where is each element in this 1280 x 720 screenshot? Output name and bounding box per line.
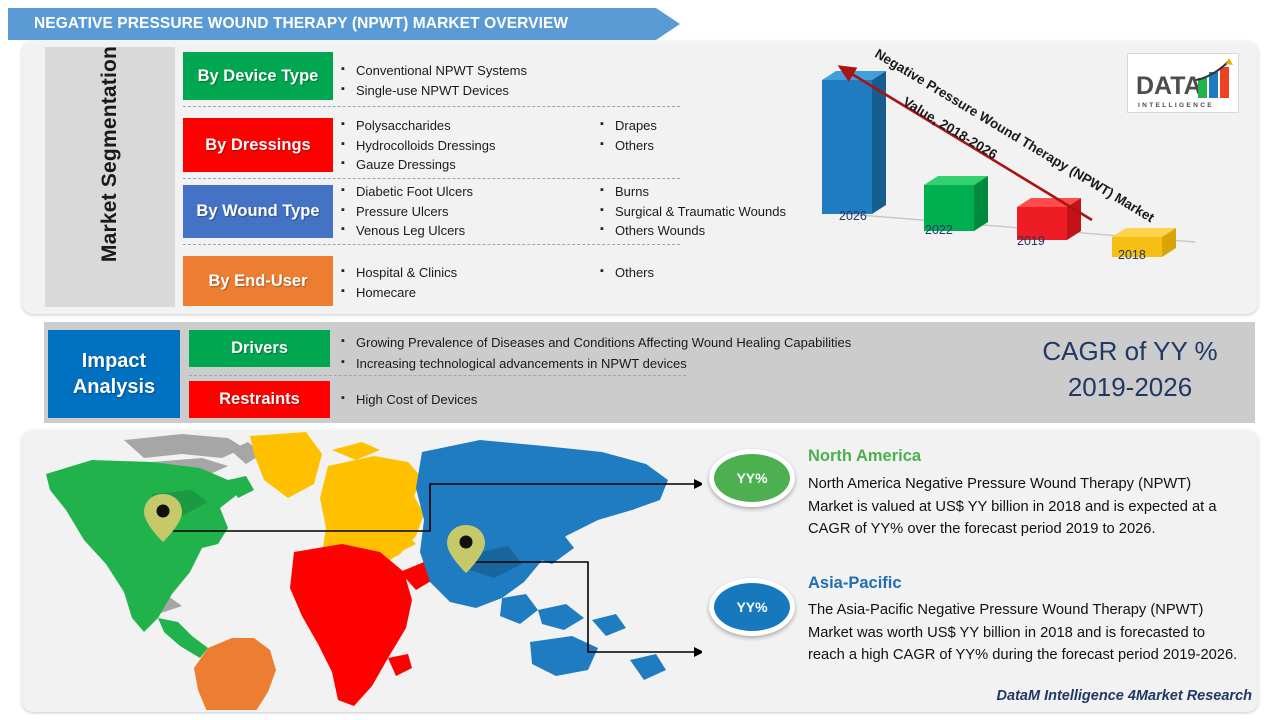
list-item: Polysaccharides bbox=[341, 116, 495, 136]
market-segmentation-label: Market Segmentation bbox=[98, 24, 122, 284]
map-region-north-america bbox=[46, 460, 254, 658]
list-item: Surgical & Traumatic Wounds bbox=[600, 202, 786, 222]
north-america-badge[interactable]: YY% bbox=[709, 449, 795, 507]
impact-title-line2: Analysis bbox=[73, 376, 155, 398]
list-item: Conventional NPWT Systems bbox=[341, 61, 527, 81]
segment-box-end-user[interactable]: By End-User bbox=[183, 256, 333, 306]
logo-wordmark: DATA bbox=[1136, 72, 1202, 100]
list-item: Homecare bbox=[341, 283, 457, 303]
impact-box-drivers[interactable]: Drivers bbox=[189, 330, 330, 367]
list-item: Venous Leg Ulcers bbox=[341, 221, 473, 241]
segment-items-dressings-col2: Drapes Others bbox=[600, 116, 657, 155]
impact-items-drivers: Growing Prevalence of Diseases and Condi… bbox=[341, 332, 851, 374]
segment-items-device-type-col1: Conventional NPWT Systems Single-use NPW… bbox=[341, 61, 527, 100]
map-region-africa bbox=[290, 544, 436, 706]
list-item: Burns bbox=[600, 182, 786, 202]
impact-label-drivers: Drivers bbox=[231, 339, 288, 358]
list-item: Growing Prevalence of Diseases and Condi… bbox=[341, 332, 851, 353]
cagr-line2: 2019-2026 bbox=[990, 369, 1270, 405]
segment-label-dressings: By Dressings bbox=[205, 136, 310, 155]
segment-label-wound-type: By Wound Type bbox=[196, 202, 319, 221]
list-item: Gauze Dressings bbox=[341, 155, 495, 175]
segment-divider-2 bbox=[183, 178, 680, 179]
impact-divider bbox=[189, 375, 686, 376]
north-america-body: North America Negative Pressure Wound Th… bbox=[808, 473, 1238, 541]
asia-pacific-body: The Asia-Pacific Negative Pressure Wound… bbox=[808, 599, 1238, 667]
world-map bbox=[32, 432, 702, 710]
list-item: Others Wounds bbox=[600, 221, 786, 241]
impact-label-restraints: Restraints bbox=[219, 390, 300, 409]
cagr-line1: CAGR of YY % bbox=[990, 333, 1270, 369]
segment-box-wound-type[interactable]: By Wound Type bbox=[183, 185, 333, 238]
segment-items-dressings-col1: Polysaccharides Hydrocolloids Dressings … bbox=[341, 116, 495, 175]
list-item: High Cost of Devices bbox=[341, 390, 477, 410]
segment-items-wound-type-col2: Burns Surgical & Traumatic Wounds Others… bbox=[600, 182, 786, 241]
segment-items-end-user-col2: Others bbox=[600, 263, 654, 283]
logo-star-icon bbox=[1226, 58, 1233, 65]
map-region-greenland bbox=[250, 432, 322, 498]
chart-xtick-2022: 2022 bbox=[925, 223, 953, 237]
cagr-callout: CAGR of YY % 2019-2026 bbox=[990, 333, 1270, 405]
list-item: Drapes bbox=[600, 116, 657, 136]
list-item: Others bbox=[600, 136, 657, 156]
north-america-title: North America bbox=[808, 447, 921, 466]
connector-arrow-na-icon bbox=[694, 479, 702, 489]
asia-pacific-badge[interactable]: YY% bbox=[709, 578, 795, 636]
segment-box-dressings[interactable]: By Dressings bbox=[183, 118, 333, 172]
impact-box-restraints[interactable]: Restraints bbox=[189, 381, 330, 418]
list-item: Single-use NPWT Devices bbox=[341, 81, 527, 101]
list-item: Hospital & Clinics bbox=[341, 263, 457, 283]
segment-divider-3 bbox=[183, 244, 680, 245]
segment-items-end-user-col1: Hospital & Clinics Homecare bbox=[341, 263, 457, 302]
chart-xtick-2018: 2018 bbox=[1118, 248, 1146, 262]
list-item: Others bbox=[600, 263, 654, 283]
list-item: Diabetic Foot Ulcers bbox=[341, 182, 473, 202]
infographic-root: NEGATIVE PRESSURE WOUND THERAPY (NPWT) M… bbox=[0, 0, 1280, 720]
impact-title-line1: Impact bbox=[82, 350, 146, 372]
logo-bar-red bbox=[1220, 67, 1229, 98]
chart-xtick-2019: 2019 bbox=[1017, 234, 1045, 248]
segment-box-device-type[interactable]: By Device Type bbox=[183, 52, 333, 100]
map-region-asia-pacific bbox=[416, 440, 668, 680]
list-item: Hydrocolloids Dressings bbox=[341, 136, 495, 156]
list-item: Increasing technological advancements in… bbox=[341, 353, 851, 374]
chart-xtick-2026: 2026 bbox=[839, 209, 867, 223]
logo-subtitle: INTELLIGENCE bbox=[1138, 102, 1214, 109]
north-america-badge-label: YY% bbox=[736, 470, 767, 486]
asia-pacific-title: Asia-Pacific bbox=[808, 574, 902, 593]
asia-pacific-badge-label: YY% bbox=[736, 599, 767, 615]
connector-arrow-ap-icon bbox=[694, 647, 702, 657]
source-credit: DataM Intelligence 4Market Research bbox=[997, 688, 1252, 704]
datam-intelligence-logo: DATA INTELLIGENCE bbox=[1127, 53, 1239, 113]
market-segmentation-label-box: Market Segmentation bbox=[45, 47, 175, 307]
impact-items-restraints: High Cost of Devices bbox=[341, 390, 477, 410]
segment-label-device-type: By Device Type bbox=[198, 67, 319, 86]
segment-items-wound-type-col1: Diabetic Foot Ulcers Pressure Ulcers Ven… bbox=[341, 182, 473, 241]
impact-analysis-title: Impact Analysis bbox=[48, 330, 180, 418]
segment-divider-1 bbox=[183, 106, 680, 107]
banner-arrow-tip bbox=[656, 8, 680, 40]
bar-2026 bbox=[822, 71, 886, 214]
logo-bar-green bbox=[1198, 78, 1207, 98]
list-item: Pressure Ulcers bbox=[341, 202, 473, 222]
segment-label-end-user: By End-User bbox=[208, 272, 307, 291]
